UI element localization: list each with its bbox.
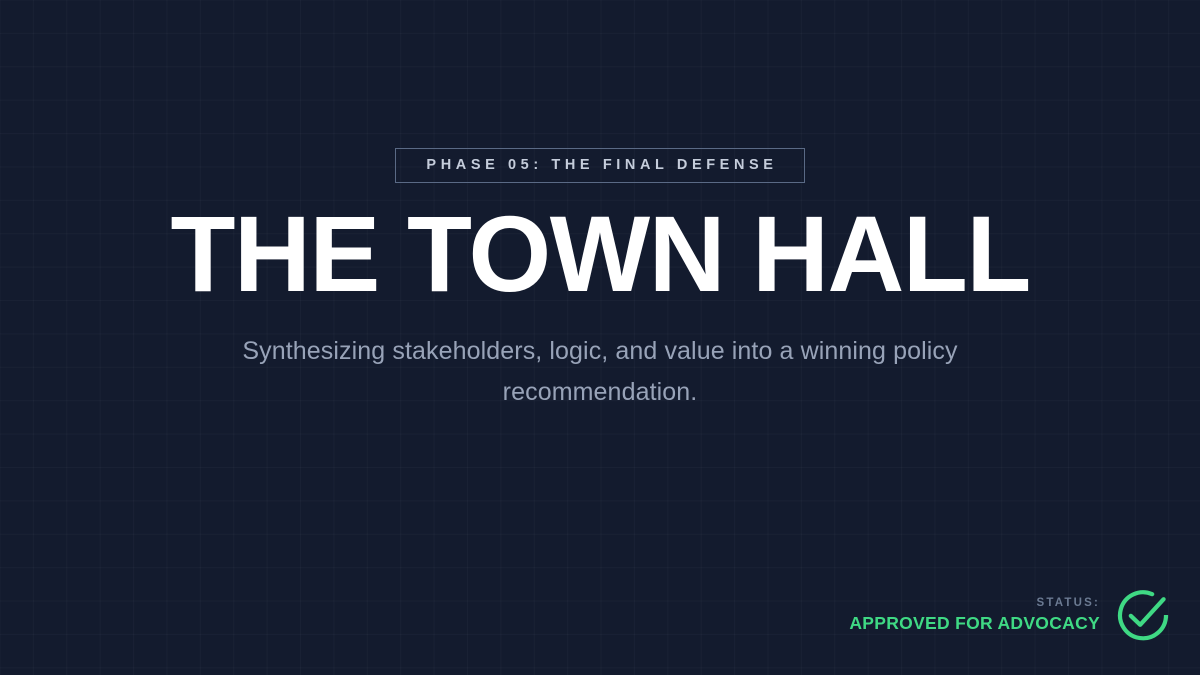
title-slide: PHASE 05: THE FINAL DEFENSE THE TOWN HAL… (0, 0, 1200, 675)
slide-subtitle: Synthesizing stakeholders, logic, and va… (205, 331, 995, 412)
status-badge: STATUS: APPROVED FOR ADVOCACY (849, 588, 1170, 642)
status-value: APPROVED FOR ADVOCACY (849, 615, 1100, 633)
check-circle-icon (1116, 588, 1170, 642)
page-title: THE TOWN HALL (170, 204, 1029, 303)
status-text-group: STATUS: APPROVED FOR ADVOCACY (849, 598, 1100, 632)
status-label: STATUS: (1036, 598, 1100, 610)
slide-content-stack: PHASE 05: THE FINAL DEFENSE THE TOWN HAL… (0, 0, 1200, 560)
phase-badge: PHASE 05: THE FINAL DEFENSE (395, 148, 804, 184)
phase-badge-label: PHASE 05: THE FINAL DEFENSE (426, 158, 777, 173)
